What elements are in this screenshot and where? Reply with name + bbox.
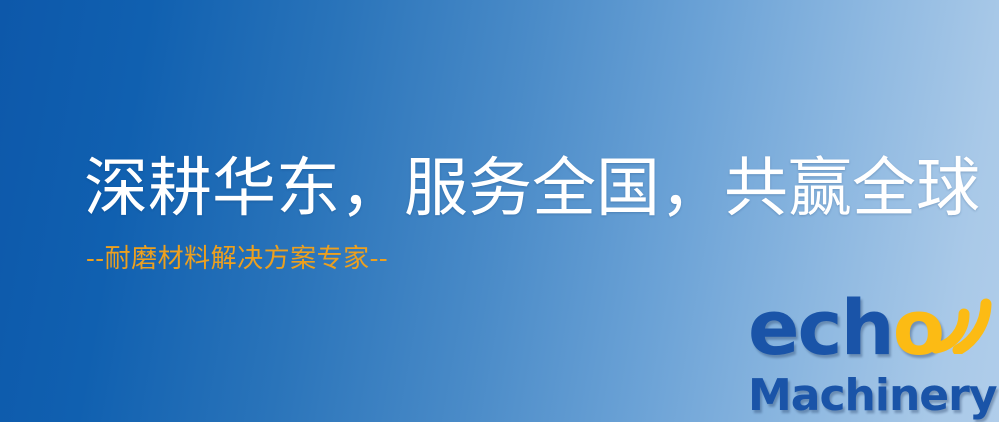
echo-machinery-logo: echo Machinery® <box>748 296 998 422</box>
logo-word-echo: echo <box>748 290 943 366</box>
logo-word-prefix: ech <box>748 283 893 372</box>
logo-wordmark: echo <box>748 296 998 374</box>
banner-text-block: 深耕华东，服务全国，共赢全球 --耐磨材料解决方案专家-- <box>84 150 944 276</box>
banner-headline: 深耕华东，服务全国，共赢全球 <box>84 150 944 228</box>
echo-wave-arcs-icon <box>924 292 998 354</box>
logo-subtext: Machinery® <box>748 366 999 420</box>
hero-banner: 深耕华东，服务全国，共赢全球 --耐磨材料解决方案专家-- echo Machi… <box>0 0 999 422</box>
logo-subtext-label: Machinery <box>748 370 997 421</box>
banner-subtitle: --耐磨材料解决方案专家-- <box>86 242 944 276</box>
